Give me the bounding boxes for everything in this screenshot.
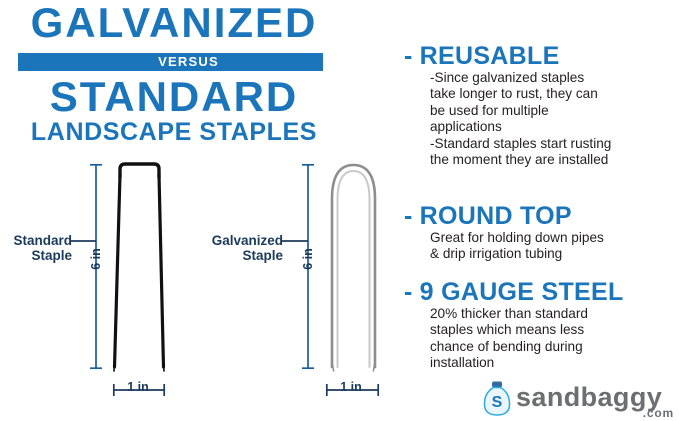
feature-reusable-body-line: -Standard staples start rusting	[430, 136, 679, 152]
feature-9-gauge-steel-body-line: 20% thicker than standard	[430, 306, 679, 322]
features-column: -REUSABLE -Since galvanized staples take…	[404, 0, 679, 421]
infographic-canvas: GALVANIZED VERSUS STANDARD LANDSCAPE STA…	[0, 0, 679, 421]
galvanized-staple-drawing	[332, 165, 375, 371]
feature-9-gauge-steel-body: 20% thicker than standard staples which …	[430, 306, 679, 372]
standard-height-dimension-text: 6 in	[89, 241, 103, 277]
feature-round-top-body-line: & drip irrigation tubing	[430, 246, 679, 262]
feature-9-gauge-steel-body-line: chance of bending during	[430, 339, 679, 355]
feature-reusable-body-line: be used for multiple	[430, 103, 679, 119]
feature-9-gauge-steel-body-line: installation	[430, 355, 679, 371]
standard-staple-label: Standard Staple	[0, 233, 72, 263]
feature-9-gauge-steel-heading-text: 9 GAUGE STEEL	[420, 278, 624, 306]
galvanized-width-dimension-text: 1 in	[313, 380, 389, 394]
galvanized-height-dimension-text: 6 in	[301, 241, 315, 277]
feature-reusable-heading-text: REUSABLE	[420, 42, 560, 70]
logo-tld: .com	[643, 406, 674, 420]
galvanized-staple-label-line1: Galvanized	[193, 233, 283, 248]
feature-round-top-body-line: Great for holding down pipes	[430, 230, 679, 246]
svg-text:S: S	[492, 394, 503, 411]
sandbaggy-logo[interactable]: S sandbaggy .com	[480, 379, 676, 419]
standard-staple-drawing	[114, 164, 164, 371]
feature-round-top-heading-text: ROUND TOP	[420, 202, 572, 230]
feature-round-top-body: Great for holding down pipes & drip irri…	[430, 230, 679, 263]
feature-9-gauge-steel: -9 GAUGE STEEL 20% thicker than standard…	[404, 278, 679, 372]
galvanized-staple-label-line2: Staple	[193, 248, 283, 263]
bullet-dash-icon: -	[404, 202, 413, 230]
bullet-dash-icon: -	[404, 278, 413, 306]
feature-reusable-heading: -REUSABLE	[404, 42, 679, 70]
versus-label: VERSUS	[18, 54, 323, 70]
galvanized-staple-label: Galvanized Staple	[193, 233, 283, 263]
feature-reusable-body-line: -Since galvanized staples	[430, 70, 679, 86]
feature-9-gauge-steel-heading: -9 GAUGE STEEL	[404, 278, 679, 306]
feature-9-gauge-steel-body-line: staples which means less	[430, 322, 679, 338]
standard-staple-label-line2: Staple	[0, 248, 72, 263]
standard-width-dimension-text: 1 in	[100, 380, 176, 394]
title-line-galvanized: GALVANIZED	[8, 2, 340, 44]
feature-reusable-body: -Since galvanized staples take longer to…	[430, 70, 679, 168]
standard-staple-label-line1: Standard	[0, 233, 72, 248]
feature-reusable-body-line: applications	[430, 119, 679, 135]
feature-reusable-body-line: the moment they are installed	[430, 152, 679, 168]
feature-round-top: -ROUND TOP Great for holding down pipes …	[404, 202, 679, 263]
title-line-standard: STANDARD	[8, 76, 340, 118]
feature-reusable: -REUSABLE -Since galvanized staples take…	[404, 42, 679, 168]
sandbag-icon: S	[480, 379, 514, 417]
logo-wordmark: sandbaggy	[516, 382, 662, 413]
bullet-dash-icon: -	[404, 42, 413, 70]
staple-comparison-diagram: Standard Staple Galvanized Staple 6 in 6…	[0, 155, 400, 421]
feature-round-top-heading: -ROUND TOP	[404, 202, 679, 230]
title-block: GALVANIZED VERSUS STANDARD LANDSCAPE STA…	[0, 0, 400, 152]
feature-reusable-body-line: take longer to rust, they can	[430, 86, 679, 102]
title-subtitle: LANDSCAPE STAPLES	[8, 120, 340, 145]
